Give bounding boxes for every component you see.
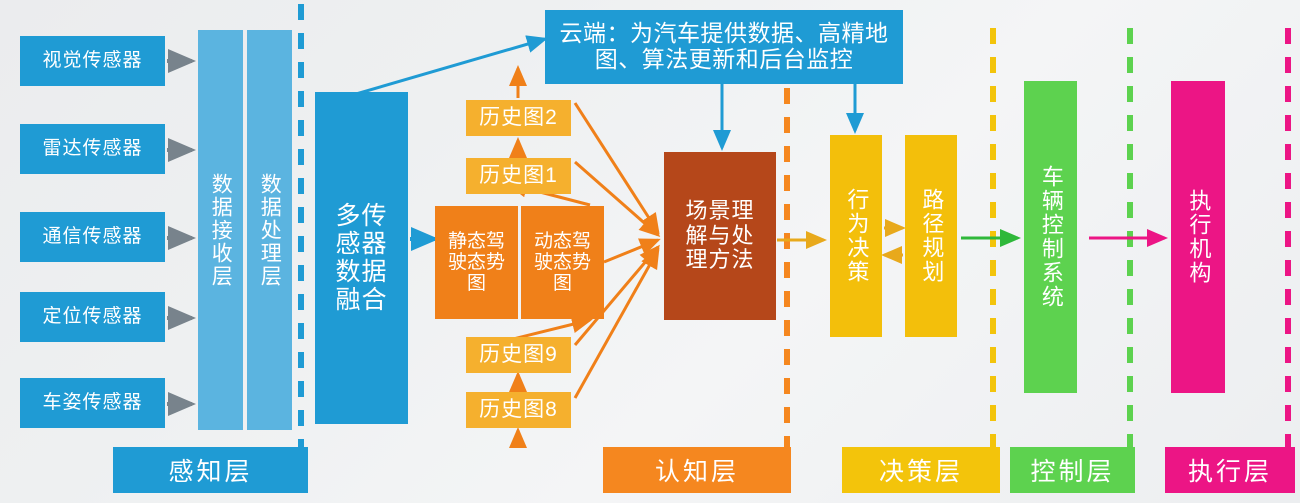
layer-label-text: 执行层 bbox=[1188, 452, 1272, 488]
history-label: 历史图8 bbox=[479, 398, 558, 422]
history-label: 历史图2 bbox=[479, 106, 558, 130]
bar-label: 数据处理层 bbox=[258, 173, 282, 288]
dynamic-driving-situation-map-box[interactable]: 动态驾驶态势图 bbox=[521, 206, 604, 319]
sensor-box-communication[interactable]: 通信传感器 bbox=[20, 212, 165, 262]
diagram-canvas: 视觉传感器 雷达传感器 通信传感器 定位传感器 车姿传感器 数据接收层 数据处理… bbox=[0, 0, 1300, 503]
path-planning-box[interactable]: 路径规划 bbox=[905, 135, 957, 337]
layer-label-text: 感知层 bbox=[168, 452, 252, 488]
layer-label-cognition[interactable]: 认知层 bbox=[603, 447, 791, 493]
sensor-box-radar[interactable]: 雷达传感器 bbox=[20, 124, 165, 174]
layer-label-execution[interactable]: 执行层 bbox=[1165, 447, 1295, 493]
history-map-2-box[interactable]: 历史图2 bbox=[466, 100, 571, 136]
sensor-label: 视觉传感器 bbox=[42, 50, 142, 71]
history-label: 历史图1 bbox=[479, 164, 558, 188]
history-map-8-box[interactable]: 历史图8 bbox=[466, 392, 571, 428]
layer-label-control[interactable]: 控制层 bbox=[1010, 447, 1135, 493]
sensor-arrows bbox=[167, 61, 192, 404]
behaviour-decision-box[interactable]: 行为决策 bbox=[830, 135, 882, 337]
layer-label-text: 控制层 bbox=[1030, 452, 1114, 488]
history-map-9-box[interactable]: 历史图9 bbox=[466, 337, 571, 373]
multi-sensor-fusion-box[interactable]: 多传感器数据融合 bbox=[315, 92, 408, 424]
sensor-box-attitude[interactable]: 车姿传感器 bbox=[20, 378, 165, 428]
data-reception-layer-bar[interactable]: 数据接收层 bbox=[198, 30, 243, 430]
cloud-services-box[interactable]: 云端：为汽车提供数据、高精地图、算法更新和后台监控 bbox=[545, 10, 903, 84]
sensor-box-vision[interactable]: 视觉传感器 bbox=[20, 36, 165, 86]
execution-label: 执行机构 bbox=[1186, 189, 1211, 285]
sensor-label: 通信传感器 bbox=[42, 226, 142, 247]
scene-understanding-box[interactable]: 场景理解与处理方法 bbox=[664, 152, 776, 320]
cloud-label: 云端：为汽车提供数据、高精地图、算法更新和后台监控 bbox=[555, 21, 893, 73]
decision-label: 路径规划 bbox=[919, 188, 944, 284]
layer-label-text: 认知层 bbox=[655, 452, 739, 488]
sensor-label: 定位传感器 bbox=[42, 306, 142, 327]
sensor-label: 车姿传感器 bbox=[42, 392, 142, 413]
static-driving-situation-map-box[interactable]: 静态驾驶态势图 bbox=[435, 206, 518, 319]
sensor-label: 雷达传感器 bbox=[42, 138, 142, 159]
layer-label-text: 决策层 bbox=[879, 452, 963, 488]
situation-label: 静态驾驶态势图 bbox=[446, 231, 508, 295]
scene-label: 场景理解与处理方法 bbox=[682, 199, 758, 273]
history-label: 历史图9 bbox=[479, 343, 558, 367]
sensor-box-positioning[interactable]: 定位传感器 bbox=[20, 292, 165, 342]
situation-label: 动态驾驶态势图 bbox=[532, 231, 594, 295]
decision-label: 行为决策 bbox=[844, 188, 869, 284]
layer-label-perception[interactable]: 感知层 bbox=[113, 447, 308, 493]
actuator-box[interactable]: 执行机构 bbox=[1171, 81, 1225, 393]
data-processing-layer-bar[interactable]: 数据处理层 bbox=[247, 30, 292, 430]
vehicle-control-system-box[interactable]: 车辆控制系统 bbox=[1024, 81, 1077, 393]
fusion-label: 多传感器数据融合 bbox=[331, 202, 393, 314]
layer-label-decision[interactable]: 决策层 bbox=[842, 447, 1000, 493]
history-map-1-box[interactable]: 历史图1 bbox=[466, 158, 571, 194]
control-label: 车辆控制系统 bbox=[1038, 165, 1063, 309]
bar-label: 数据接收层 bbox=[209, 173, 233, 288]
